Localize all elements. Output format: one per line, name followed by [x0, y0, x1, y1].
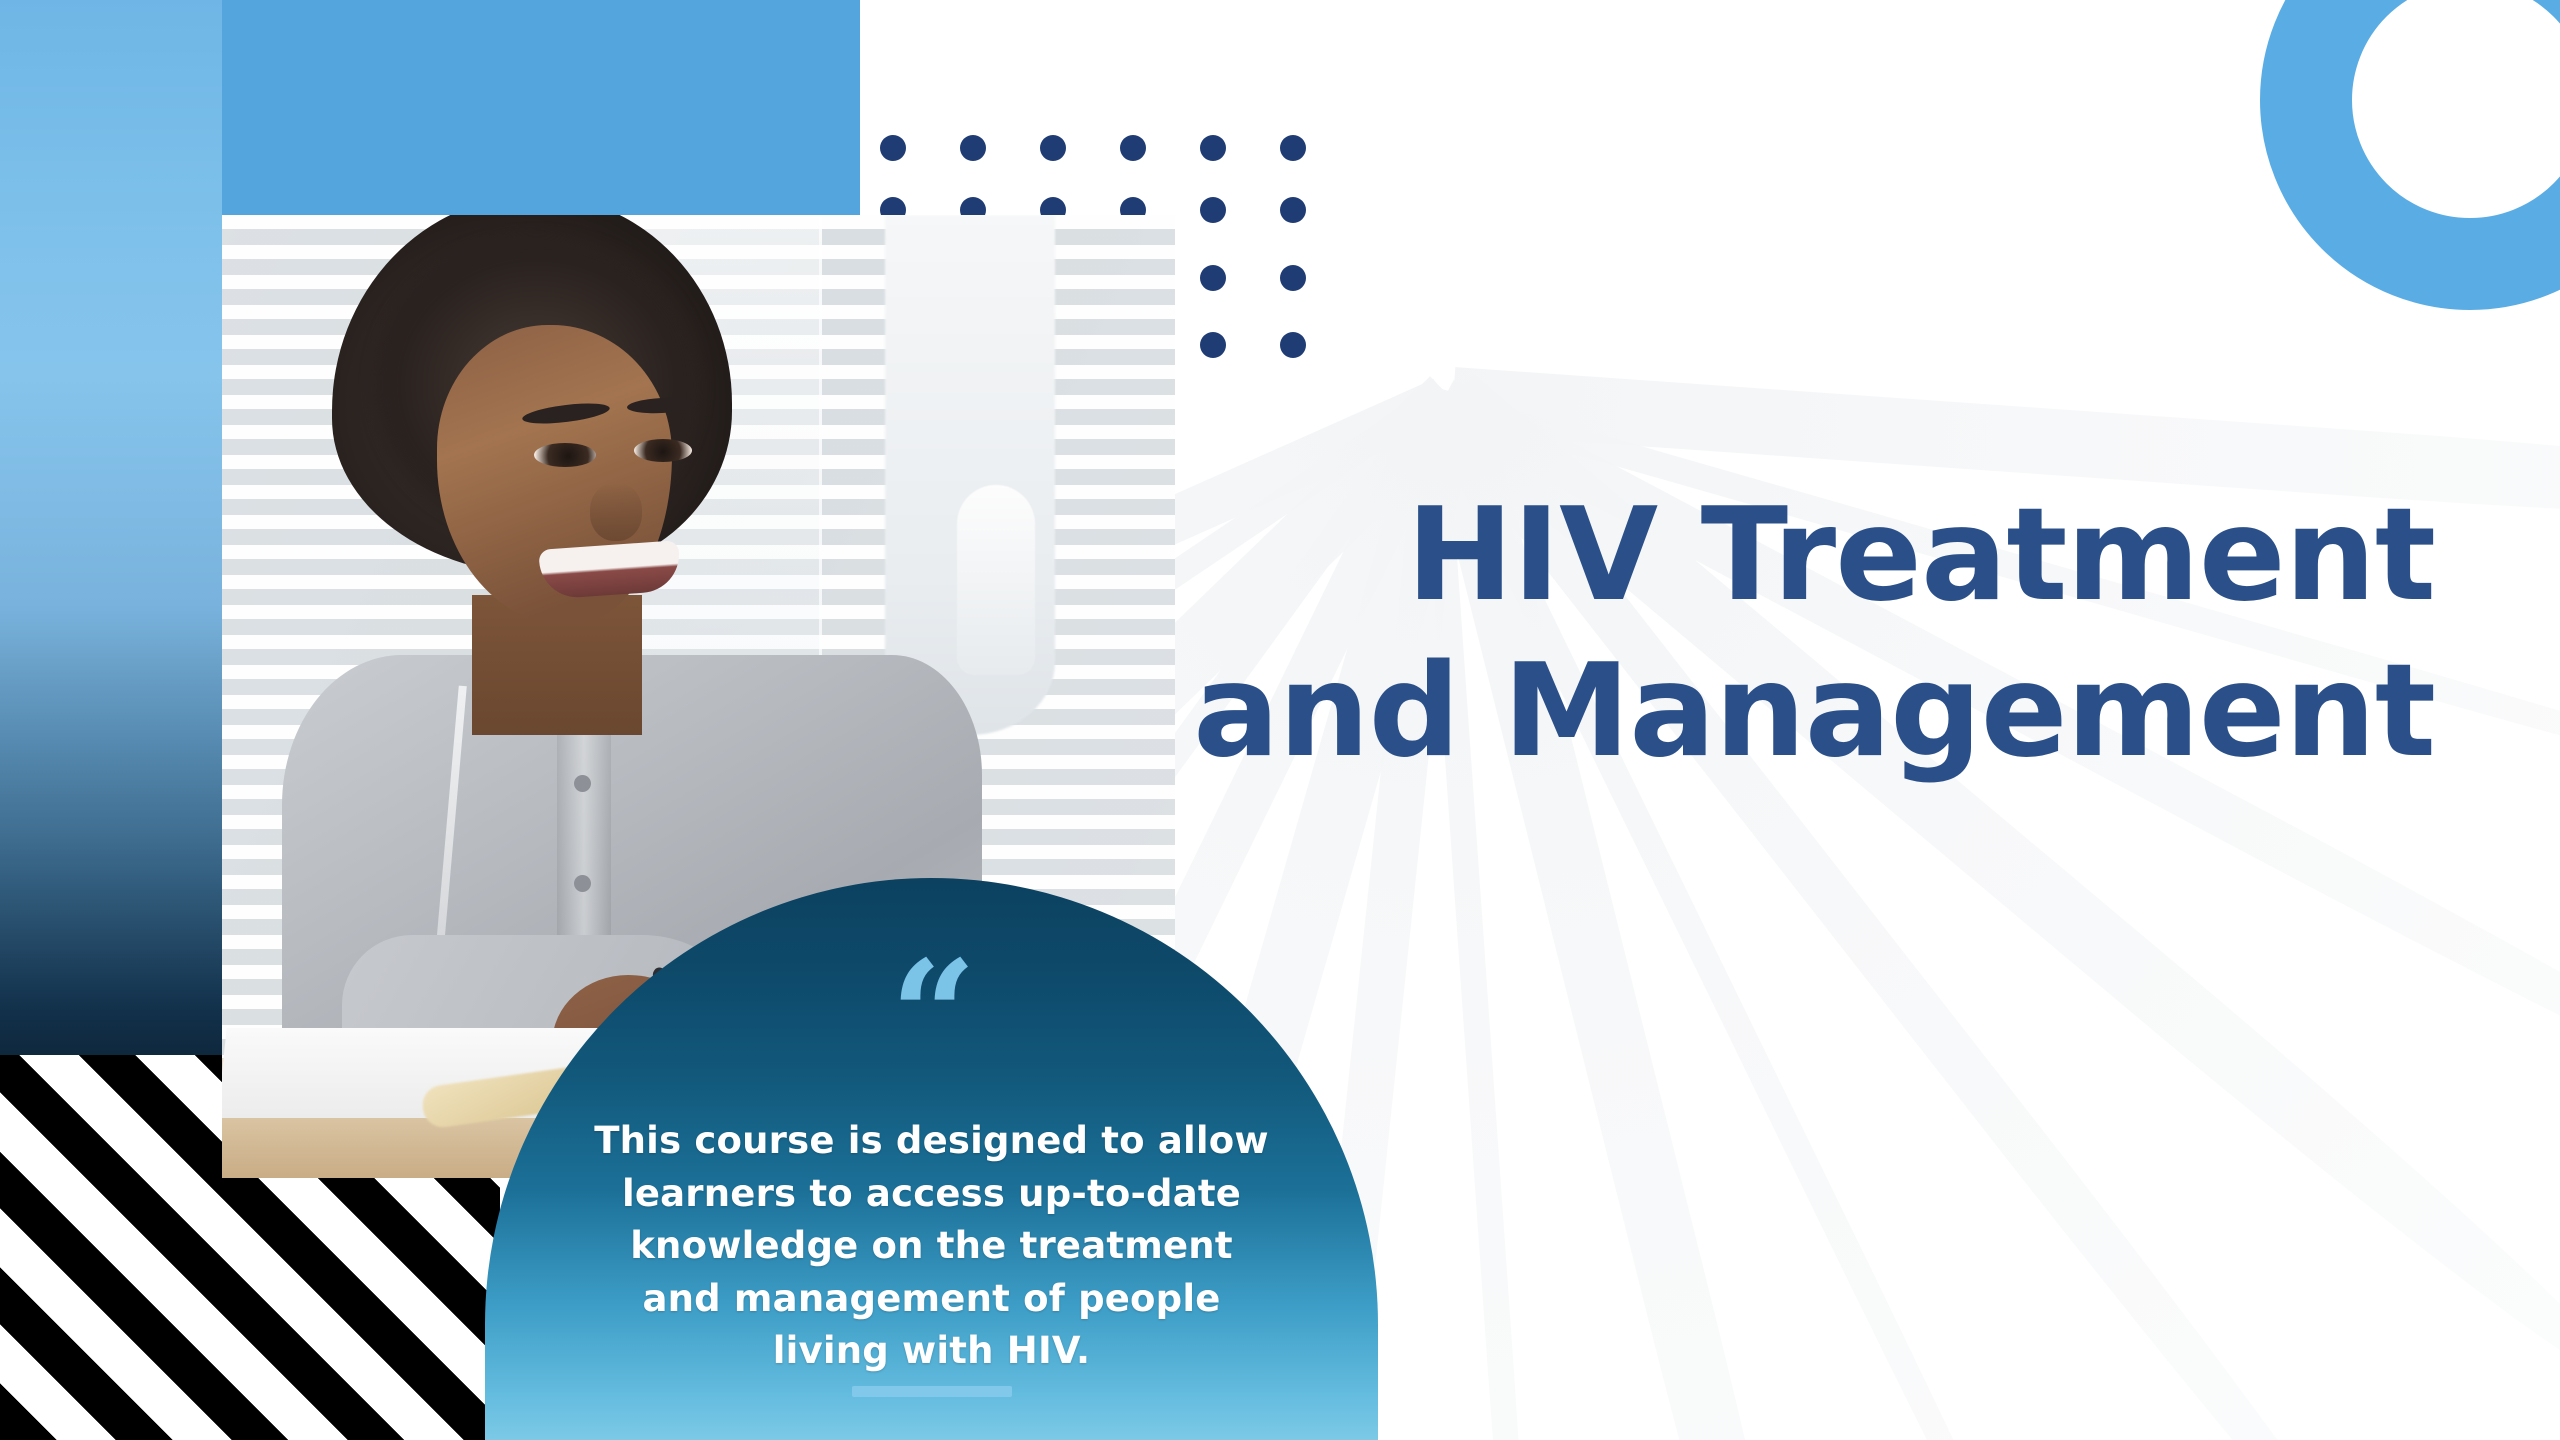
slide-canvas: “ This course is designed to allow learn… [0, 0, 2560, 1440]
page-title: HIV Treatment and Management [1035, 478, 2435, 790]
grid-dot [1200, 332, 1226, 358]
shirt-button [574, 775, 591, 792]
nose [590, 483, 642, 541]
grid-dot [1120, 135, 1146, 161]
grid-dot [1200, 135, 1226, 161]
title-line-1: HIV Treatment [1035, 478, 2435, 634]
grid-dot [1280, 332, 1306, 358]
grid-dot [1040, 135, 1066, 161]
grid-dot [880, 135, 906, 161]
eye-left [534, 443, 596, 467]
quote-icon: “ [890, 970, 972, 1063]
accent-divider [852, 1386, 1012, 1397]
eye-right [634, 439, 692, 462]
grid-dot [1280, 197, 1306, 223]
title-line-2: and Management [1035, 634, 2435, 790]
grid-dot [1280, 265, 1306, 291]
ring-decoration [2260, 0, 2560, 310]
lamp [957, 485, 1035, 675]
grid-dot [960, 135, 986, 161]
grid-dot [1200, 265, 1226, 291]
grid-dot [1280, 135, 1306, 161]
grid-dot [1200, 197, 1226, 223]
quote-text: This course is designed to allow learner… [587, 1115, 1277, 1378]
shirt-button [574, 875, 591, 892]
